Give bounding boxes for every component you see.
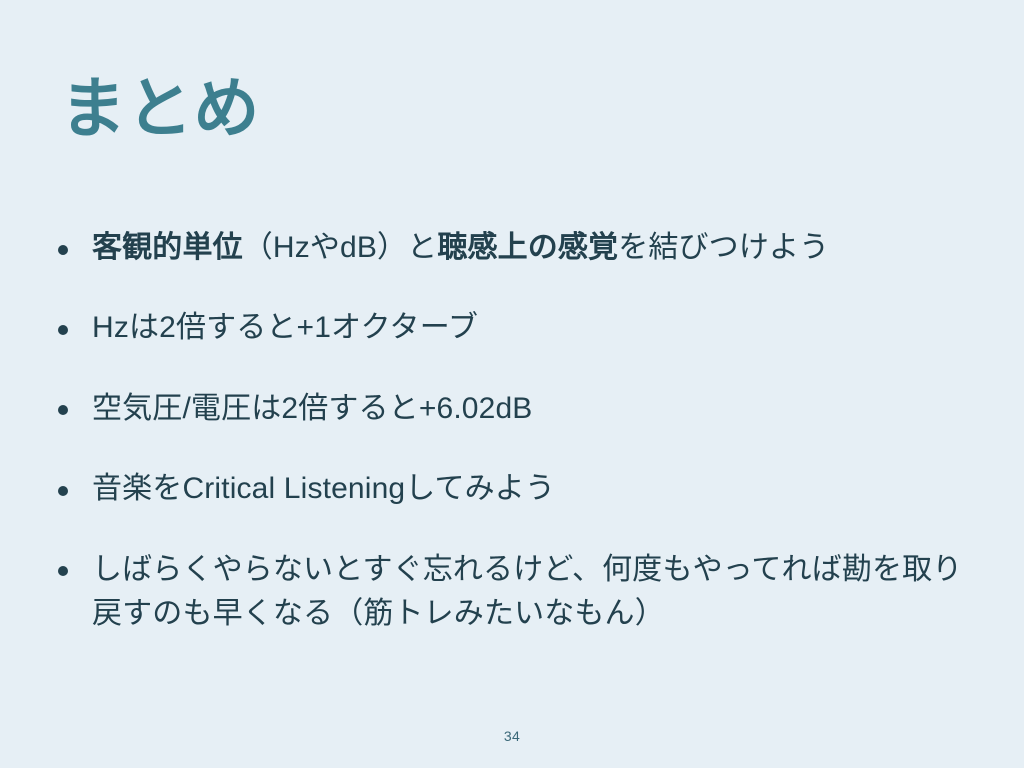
bullet-text: 音楽をCritical Listeningしてみよう bbox=[92, 467, 982, 511]
plain-text: しばらくやらないとすぐ忘れるけど、何度もやってれば勘を取り戻すのも早くなる（筋ト… bbox=[92, 553, 962, 630]
plain-text: Hzは2倍すると+1オクターブ bbox=[92, 311, 478, 344]
slide-root: まとめ 客観的単位（HzやdB）と聴感上の感覚を結びつけよう Hzは2倍すると+… bbox=[0, 0, 1024, 768]
list-item: 空気圧/電圧は2倍すると+6.02dB bbox=[52, 387, 982, 431]
page-title: まとめ bbox=[60, 72, 260, 145]
list-item: 音楽をCritical Listeningしてみよう bbox=[52, 467, 982, 511]
list-item: しばらくやらないとすぐ忘れるけど、何度もやってれば勘を取り戻すのも早くなる（筋ト… bbox=[52, 548, 982, 637]
plain-text: 空気圧/電圧は2倍すると+6.02dB bbox=[92, 392, 532, 425]
bullet-dot-icon bbox=[58, 486, 68, 496]
plain-text: 音楽をCritical Listeningしてみよう bbox=[92, 472, 555, 505]
bullet-text: しばらくやらないとすぐ忘れるけど、何度もやってれば勘を取り戻すのも早くなる（筋ト… bbox=[92, 548, 982, 637]
list-item: Hzは2倍すると+1オクターブ bbox=[52, 306, 982, 350]
emphasis-text: 聴感上の感覚 bbox=[437, 231, 618, 264]
bullet-dot-icon bbox=[58, 566, 68, 576]
bullet-dot-icon bbox=[58, 405, 68, 415]
bullet-dot-icon bbox=[58, 245, 68, 255]
plain-text: （HzやdB）と bbox=[243, 231, 438, 264]
page-number: 34 bbox=[0, 728, 1024, 744]
bullet-dot-icon bbox=[58, 325, 68, 335]
bullet-list: 客観的単位（HzやdB）と聴感上の感覚を結びつけよう Hzは2倍すると+1オクタ… bbox=[52, 226, 982, 636]
list-item: 客観的単位（HzやdB）と聴感上の感覚を結びつけよう bbox=[52, 226, 982, 270]
bullet-text: 空気圧/電圧は2倍すると+6.02dB bbox=[92, 387, 982, 431]
bullet-text: 客観的単位（HzやdB）と聴感上の感覚を結びつけよう bbox=[92, 226, 982, 270]
emphasis-text: 客観的単位 bbox=[92, 231, 243, 264]
bullet-text: Hzは2倍すると+1オクターブ bbox=[92, 306, 982, 350]
plain-text: を結びつけよう bbox=[618, 231, 829, 264]
